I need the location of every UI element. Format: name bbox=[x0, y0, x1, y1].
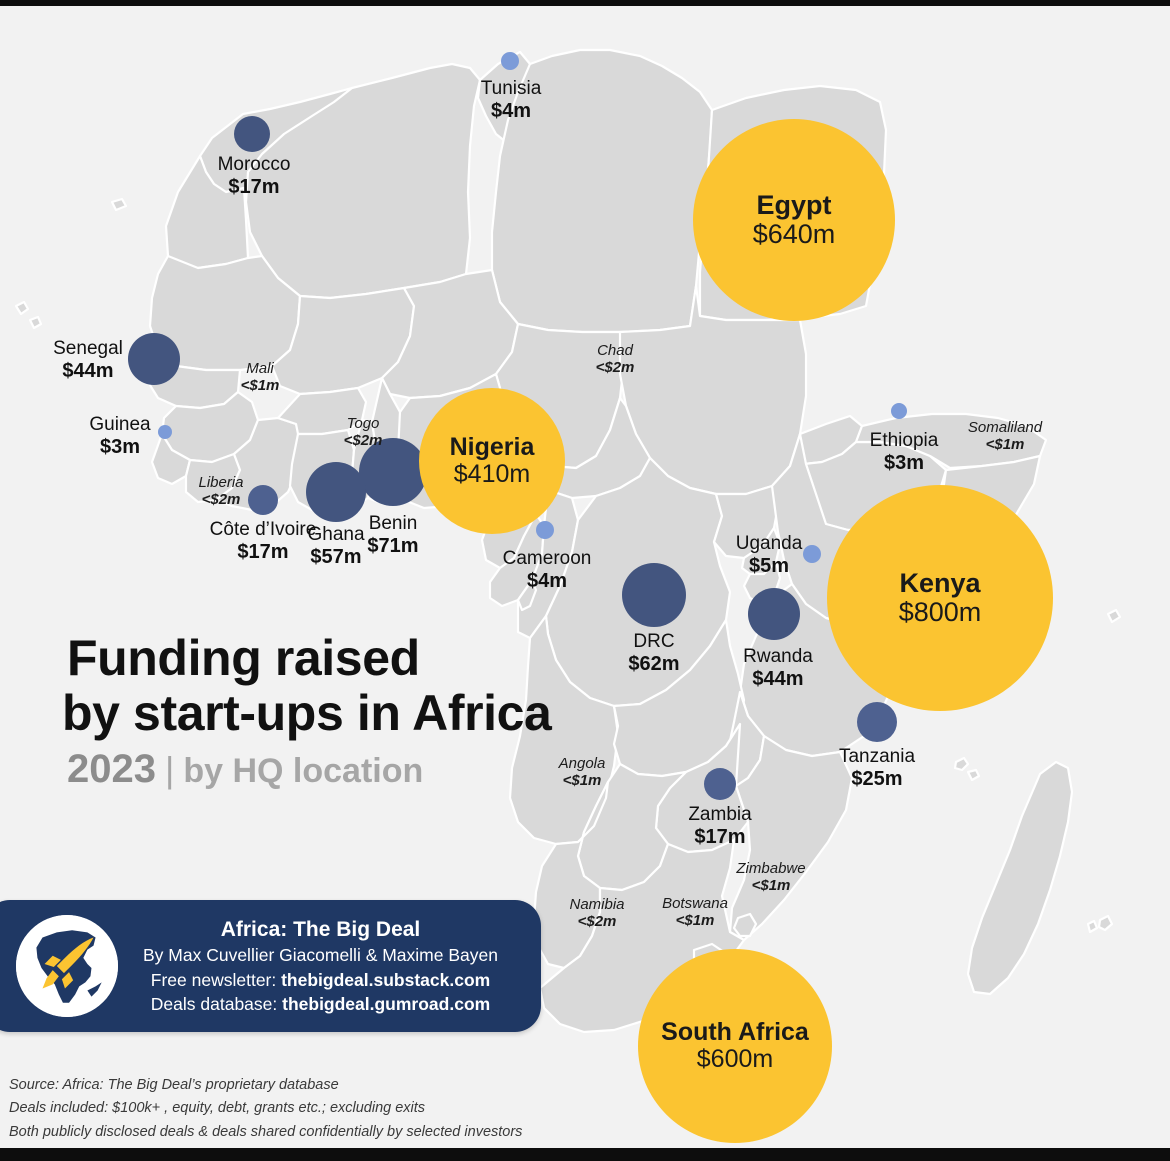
country-madagascar bbox=[968, 762, 1072, 994]
country-eswatini bbox=[734, 914, 756, 936]
map-label-name: Tanzania bbox=[839, 746, 915, 768]
brand-authors: By Max Cuvellier Giacomelli & Maxime Bay… bbox=[118, 943, 523, 967]
island-reunion bbox=[1088, 921, 1097, 932]
map-label-rwanda: Rwanda$44m bbox=[743, 646, 813, 690]
brand-database-link[interactable]: thebigdeal.gumroad.com bbox=[282, 994, 490, 1014]
title-line-1: Funding raised bbox=[67, 631, 551, 686]
map-label-drc: DRC$62m bbox=[628, 631, 679, 675]
bubble-tanzania[interactable] bbox=[857, 702, 897, 742]
map-label-value: <$2m bbox=[569, 913, 624, 930]
bubble-label-name: Nigeria bbox=[450, 434, 535, 460]
bubble-c-te-d-ivoire[interactable] bbox=[248, 485, 278, 515]
footnote-line-3: Both publicly disclosed deals & deals sh… bbox=[9, 1121, 522, 1144]
island-canary-1 bbox=[112, 199, 126, 210]
island-comoros-1 bbox=[955, 758, 968, 770]
map-label-value: $17m bbox=[218, 176, 291, 199]
bubble-label-value: $640m bbox=[753, 219, 836, 249]
bubble-tunisia[interactable] bbox=[501, 52, 519, 70]
map-label-value: $62m bbox=[628, 653, 679, 676]
map-label-ethiopia: Ethiopia$3m bbox=[870, 430, 939, 474]
map-label-name: Tunisia bbox=[481, 78, 542, 100]
island-cape-verde-1 bbox=[16, 302, 28, 314]
map-label-value: $4m bbox=[503, 570, 592, 593]
bubble-label-value: $600m bbox=[697, 1045, 773, 1073]
map-label-name: Mali bbox=[241, 360, 280, 377]
map-label-tunisia: Tunisia$4m bbox=[481, 78, 542, 122]
bubble-guinea[interactable] bbox=[158, 425, 172, 439]
map-label-name: Zambia bbox=[688, 804, 751, 826]
map-label-benin: Benin$71m bbox=[367, 513, 418, 557]
bubble-morocco[interactable] bbox=[234, 116, 270, 152]
map-label-name: Rwanda bbox=[743, 646, 813, 668]
map-label-name: Côte d’Ivoire bbox=[210, 519, 317, 541]
subtitle-separator: | bbox=[165, 749, 174, 791]
bubble-egypt[interactable]: Egypt$640m bbox=[693, 119, 895, 321]
bubble-cameroon[interactable] bbox=[536, 521, 554, 539]
map-label-chad: Chad<$2m bbox=[596, 342, 635, 376]
map-label-name: Morocco bbox=[218, 154, 291, 176]
map-label-name: Cameroon bbox=[503, 548, 592, 570]
map-label-cameroon: Cameroon$4m bbox=[503, 548, 592, 592]
map-label-uganda: Uganda$5m bbox=[736, 533, 803, 577]
map-label-name: Senegal bbox=[53, 338, 123, 360]
map-label-morocco: Morocco$17m bbox=[218, 154, 291, 198]
map-label-value: $17m bbox=[210, 541, 317, 564]
infographic-canvas: Egypt$640mKenya$800mSouth Africa$600mNig… bbox=[0, 6, 1170, 1148]
map-label-value: $71m bbox=[367, 535, 418, 558]
map-label-name: Ethiopia bbox=[870, 430, 939, 452]
map-label-value: <$1m bbox=[241, 377, 280, 394]
map-label-c-te-d-ivoire: Côte d’Ivoire$17m bbox=[210, 519, 317, 563]
bubble-zambia[interactable] bbox=[704, 768, 736, 800]
map-label-value: $44m bbox=[743, 668, 813, 691]
africa-rocket-logo-icon bbox=[16, 915, 118, 1017]
map-label-name: DRC bbox=[628, 631, 679, 653]
bubble-south-africa[interactable]: South Africa$600m bbox=[638, 949, 832, 1143]
island-comoros-2 bbox=[968, 770, 979, 780]
map-label-angola: Angola<$1m bbox=[559, 755, 606, 789]
map-label-value: $3m bbox=[89, 436, 150, 459]
bubble-label-value: $800m bbox=[899, 597, 982, 627]
map-label-liberia: Liberia<$2m bbox=[198, 474, 243, 508]
map-label-name: Somaliland bbox=[968, 419, 1042, 436]
bubble-ghana[interactable] bbox=[306, 462, 366, 522]
bubble-ethiopia[interactable] bbox=[891, 403, 907, 419]
bubble-label-name: Egypt bbox=[756, 191, 831, 219]
bubble-label-name: South Africa bbox=[661, 1019, 809, 1045]
bubble-nigeria[interactable]: Nigeria$410m bbox=[419, 388, 565, 534]
map-label-zimbabwe: Zimbabwe<$1m bbox=[736, 860, 805, 894]
map-label-namibia: Namibia<$2m bbox=[569, 896, 624, 930]
map-label-value: <$1m bbox=[736, 877, 805, 894]
map-label-value: $25m bbox=[839, 768, 915, 791]
map-label-name: Angola bbox=[559, 755, 606, 772]
map-label-botswana: Botswana<$1m bbox=[662, 895, 728, 929]
map-label-name: Botswana bbox=[662, 895, 728, 912]
map-label-value: <$2m bbox=[198, 491, 243, 508]
map-label-togo: Togo<$2m bbox=[344, 415, 383, 449]
top-edge-bar bbox=[0, 0, 1170, 6]
brand-newsletter: Free newsletter: thebigdeal.substack.com bbox=[118, 968, 523, 992]
map-label-somaliland: Somaliland<$1m bbox=[968, 419, 1042, 453]
map-label-value: $17m bbox=[688, 826, 751, 849]
brand-database-label: Deals database: bbox=[151, 994, 282, 1014]
map-label-name: Guinea bbox=[89, 414, 150, 436]
map-label-senegal: Senegal$44m bbox=[53, 338, 123, 382]
map-label-name: Togo bbox=[344, 415, 383, 432]
map-label-value: $44m bbox=[53, 360, 123, 383]
subtitle: 2023 | by HQ location bbox=[67, 747, 551, 792]
map-label-mali: Mali<$1m bbox=[241, 360, 280, 394]
bubble-senegal[interactable] bbox=[128, 333, 180, 385]
island-mauritius bbox=[1099, 916, 1112, 930]
footnote-line-1: Source: Africa: The Big Deal’s proprieta… bbox=[9, 1074, 522, 1097]
map-label-name: Benin bbox=[367, 513, 418, 535]
map-label-value: <$2m bbox=[344, 432, 383, 449]
brand-card: Africa: The Big Deal By Max Cuvellier Gi… bbox=[0, 900, 541, 1032]
map-label-zambia: Zambia$17m bbox=[688, 804, 751, 848]
footnote: Source: Africa: The Big Deal’s proprieta… bbox=[9, 1074, 522, 1144]
map-label-value: <$1m bbox=[968, 436, 1042, 453]
map-label-value: <$2m bbox=[596, 359, 635, 376]
brand-database: Deals database: thebigdeal.gumroad.com bbox=[118, 992, 523, 1016]
brand-name: Africa: The Big Deal bbox=[118, 916, 523, 943]
map-label-name: Liberia bbox=[198, 474, 243, 491]
map-label-name: Namibia bbox=[569, 896, 624, 913]
bubble-drc[interactable] bbox=[622, 563, 686, 627]
bottom-edge-bar bbox=[0, 1148, 1170, 1161]
map-label-name: Zimbabwe bbox=[736, 860, 805, 877]
bubble-kenya[interactable]: Kenya$800m bbox=[827, 485, 1053, 711]
footnote-line-2: Deals included: $100k+ , equity, debt, g… bbox=[9, 1097, 522, 1120]
map-label-value: <$1m bbox=[559, 772, 606, 789]
brand-newsletter-link[interactable]: thebigdeal.substack.com bbox=[281, 970, 490, 990]
bubble-label-value: $410m bbox=[454, 460, 530, 488]
bubble-rwanda[interactable] bbox=[748, 588, 800, 640]
map-label-tanzania: Tanzania$25m bbox=[839, 746, 915, 790]
bubble-uganda[interactable] bbox=[803, 545, 821, 563]
island-cape-verde-2 bbox=[30, 317, 41, 328]
map-label-value: $3m bbox=[870, 452, 939, 475]
map-label-value: $4m bbox=[481, 100, 542, 123]
title-line-2: by start-ups in Africa bbox=[62, 686, 551, 741]
subtitle-by-label: by HQ location bbox=[183, 752, 423, 791]
map-label-value: <$1m bbox=[662, 912, 728, 929]
map-label-name: Chad bbox=[596, 342, 635, 359]
bubble-label-name: Kenya bbox=[899, 569, 980, 597]
page-title: Funding raised by start-ups in Africa 20… bbox=[62, 631, 551, 792]
island-seychelles bbox=[1108, 610, 1120, 622]
map-label-name: Uganda bbox=[736, 533, 803, 555]
subtitle-year: 2023 bbox=[67, 747, 156, 792]
map-label-value: $5m bbox=[736, 555, 803, 578]
brand-newsletter-label: Free newsletter: bbox=[151, 970, 281, 990]
brand-text: Africa: The Big Deal By Max Cuvellier Gi… bbox=[118, 916, 541, 1016]
map-label-guinea: Guinea$3m bbox=[89, 414, 150, 458]
